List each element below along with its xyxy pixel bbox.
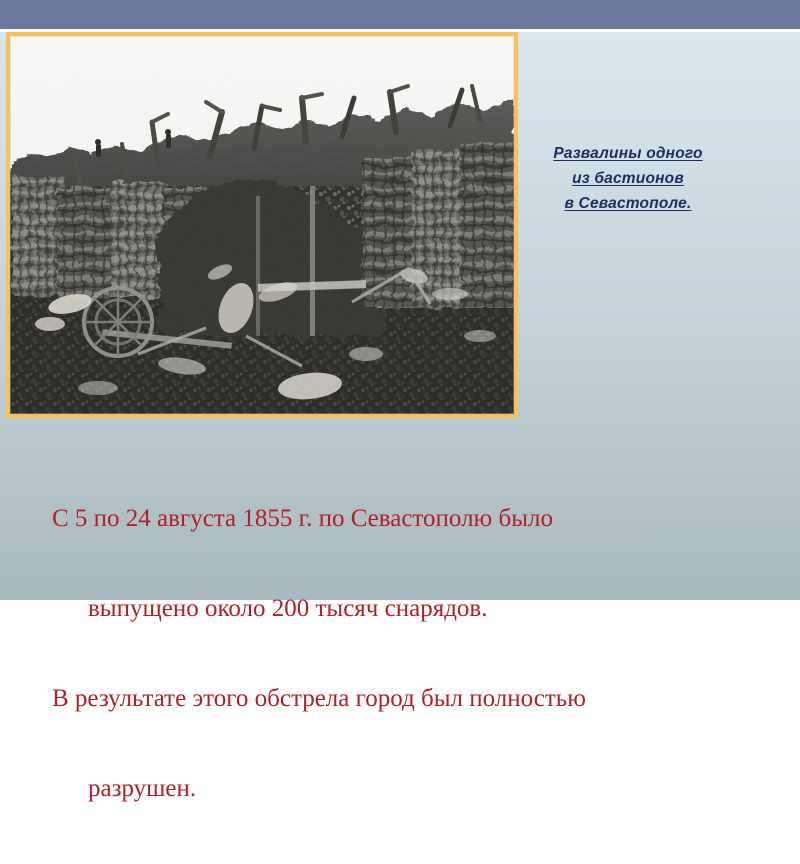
top-decorative-band xyxy=(0,0,800,29)
body-line-3: В результате этого обстрела город был по… xyxy=(52,684,772,714)
photo-image xyxy=(10,36,514,414)
ruined-bastion-photo xyxy=(10,36,514,414)
caption-line-1: Развалины одного xyxy=(528,141,728,166)
body-paragraph: С 5 по 24 августа 1855 г. по Севастополю… xyxy=(52,444,772,864)
photo-frame[interactable] xyxy=(6,32,518,418)
body-line-1: С 5 по 24 августа 1855 г. по Севастополю… xyxy=(52,504,772,534)
film-grain xyxy=(10,36,514,414)
caption-line-3: в Севастополе. xyxy=(528,191,728,216)
slide-canvas: Развалины одного из бастионов в Севастоп… xyxy=(0,0,800,600)
body-line-2: выпущено около 200 тысяч снарядов. xyxy=(52,594,772,624)
photo-caption: Развалины одного из бастионов в Севастоп… xyxy=(528,141,728,216)
caption-line-2: из бастионов xyxy=(528,166,728,191)
body-line-4: разрушен. xyxy=(52,774,772,804)
